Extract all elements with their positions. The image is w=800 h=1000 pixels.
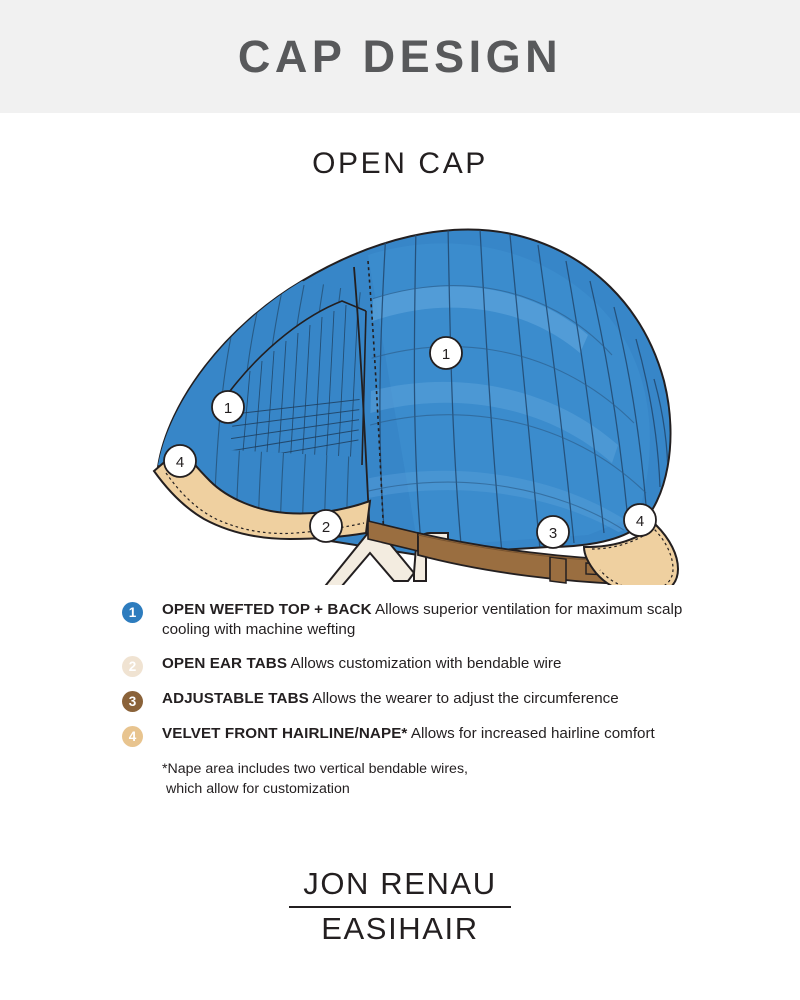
legend-desc-2: Allows customization with bendable wire	[287, 655, 561, 672]
legend-footnote: *Nape area includes two vertical bendabl…	[162, 759, 692, 799]
legend-footnote-line-2: which allow for customization	[162, 779, 692, 799]
legend-badge-4: 4	[122, 726, 143, 747]
legend-title-3: ADJUSTABLE TABS	[162, 690, 309, 707]
legend-badge-1: 1	[122, 602, 143, 623]
legend-item-3: 3 ADJUSTABLE TABS Allows the wearer to a…	[122, 689, 692, 712]
callout-badge-4-front-hairline: 4	[164, 445, 196, 477]
callout-badge-1-crown: 1	[430, 337, 462, 369]
brand-name-primary: JON RENAU	[0, 866, 800, 902]
legend-badge-2: 2	[122, 656, 143, 677]
legend-text-4: VELVET FRONT HAIRLINE/NAPE* Allows for i…	[162, 724, 655, 744]
page-title: CAP DESIGN	[238, 31, 562, 83]
legend-title-2: OPEN EAR TABS	[162, 655, 287, 672]
svg-text:1: 1	[442, 346, 450, 363]
legend-desc-4: Allows for increased hairline comfort	[407, 725, 654, 742]
legend-text-2: OPEN EAR TABS Allows customization with …	[162, 654, 561, 674]
brand-name-secondary: EASIHAIR	[0, 911, 800, 947]
legend-badge-3: 3	[122, 691, 143, 712]
callout-badge-1-front: 1	[212, 391, 244, 423]
brand-logo: JON RENAU EASIHAIR	[0, 866, 800, 947]
callout-badge-3-adjustable: 3	[537, 516, 569, 548]
legend-title-4: VELVET FRONT HAIRLINE/NAPE*	[162, 725, 407, 742]
legend-footnote-line-1: *Nape area includes two vertical bendabl…	[162, 759, 692, 779]
brand-divider	[289, 906, 511, 908]
svg-text:4: 4	[636, 513, 644, 530]
cap-design-page: CAP DESIGN OPEN CAP	[0, 0, 800, 1000]
section-subtitle: OPEN CAP	[0, 147, 800, 181]
header-band: CAP DESIGN	[0, 0, 800, 113]
svg-text:3: 3	[549, 525, 557, 542]
legend-text-3: ADJUSTABLE TABS Allows the wearer to adj…	[162, 689, 619, 709]
legend-list: 1 OPEN WEFTED TOP + BACK Allows superior…	[122, 600, 692, 799]
legend-text-1: OPEN WEFTED TOP + BACK Allows superior v…	[162, 600, 692, 640]
legend-item-4: 4 VELVET FRONT HAIRLINE/NAPE* Allows for…	[122, 724, 692, 747]
legend-title-1: OPEN WEFTED TOP + BACK	[162, 601, 372, 618]
legend-desc-3: Allows the wearer to adjust the circumfe…	[309, 690, 619, 707]
callout-badge-4-nape: 4	[624, 504, 656, 536]
callout-badge-2-ear-tab: 2	[310, 510, 342, 542]
svg-text:1: 1	[224, 400, 232, 417]
open-cap-illustration: 1 1 2 3 4	[118, 195, 688, 585]
legend-item-1: 1 OPEN WEFTED TOP + BACK Allows superior…	[122, 600, 692, 640]
svg-text:4: 4	[176, 454, 184, 471]
svg-text:2: 2	[322, 519, 330, 536]
legend-item-2: 2 OPEN EAR TABS Allows customization wit…	[122, 654, 692, 677]
